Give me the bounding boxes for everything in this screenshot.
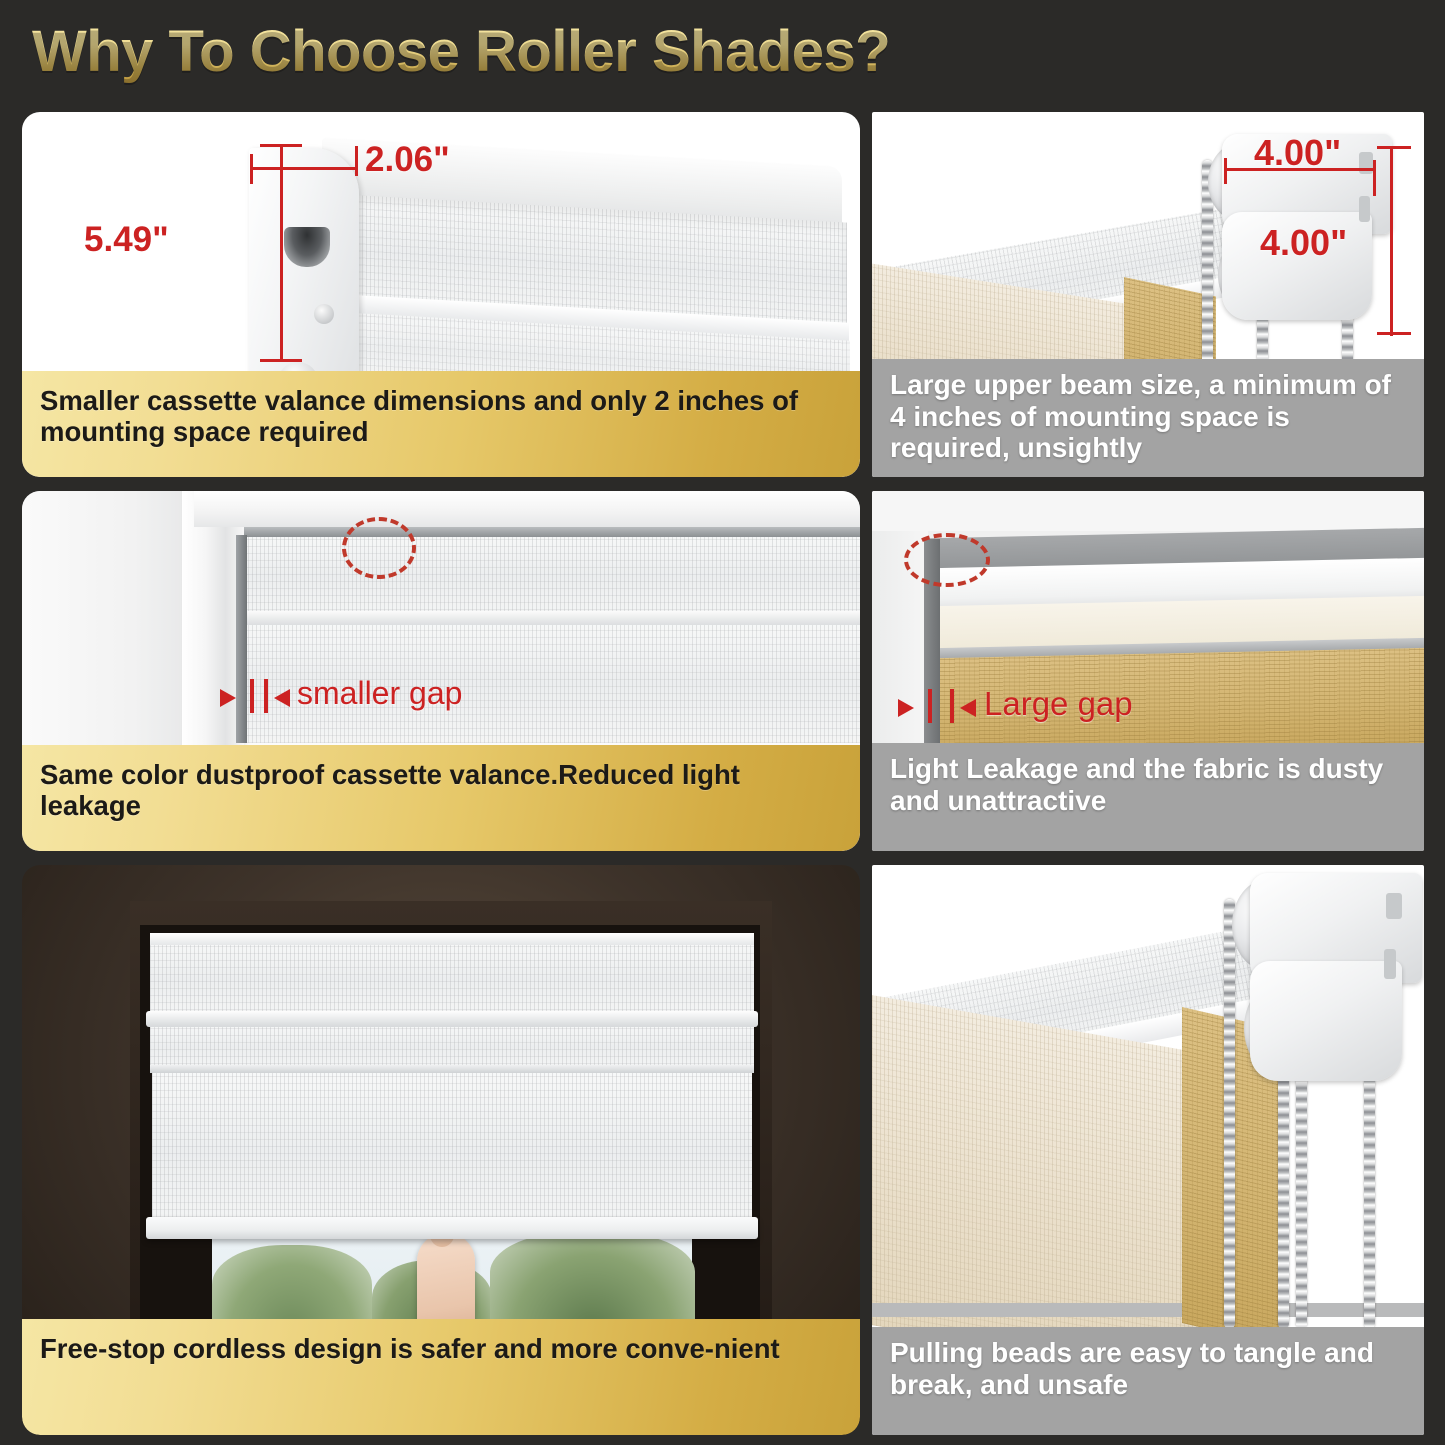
page-title-text: Why To Choose Roller Shades? <box>32 18 1232 85</box>
comparison-grid: 2.06" 5.49" Smaller cassette valance dim… <box>0 108 1445 1438</box>
bead-bracket-slot-2 <box>1384 949 1396 979</box>
end-cap-screw-upper <box>314 304 334 324</box>
panel-cordless-design: Free-stop cordless design is safer and m… <box>22 865 860 1435</box>
beam-height-top-tick <box>1377 146 1411 149</box>
gap-arrow-left <box>220 689 236 707</box>
beam-height-label: 4.00" <box>1260 222 1347 264</box>
gap-arrow-right <box>274 689 290 707</box>
beam-width-right-tick <box>1373 160 1376 196</box>
beam-height-bottom-tick <box>1377 332 1411 335</box>
caption-panel-5: Free-stop cordless design is safer and m… <box>22 1319 860 1435</box>
caption-panel-3: Same color dustproof cassette valance.Re… <box>22 745 860 851</box>
shade-main-fabric <box>152 1071 752 1231</box>
bracket-slot-2 <box>1359 196 1370 222</box>
height-dim-bottom-tick <box>260 359 302 362</box>
cassette-divider <box>244 611 860 625</box>
page-title: Why To Choose Roller Shades? <box>32 18 1232 98</box>
panel-pulling-beads: Pulling beads are easy to tangle and bre… <box>872 865 1424 1435</box>
highlight-ellipse <box>904 533 990 587</box>
gap-bar-right <box>264 679 268 713</box>
height-dimension-label: 5.49" <box>84 220 169 260</box>
window-frame-head <box>194 491 860 527</box>
large-gap-arrow-left <box>898 699 914 717</box>
cassette-left-edge <box>236 535 247 743</box>
bead-bracket-lower <box>1250 961 1402 1081</box>
bead-chain-long-1 <box>1224 899 1235 1329</box>
leak-wall-top <box>872 491 1424 531</box>
cassette-top-rail <box>244 527 860 537</box>
panel-light-leakage: Large gap Light Leakage and the fabric i… <box>872 491 1424 851</box>
window-frame-jamb <box>182 491 244 751</box>
bead-photo-floor <box>872 1303 1424 1317</box>
shade-valance-edge <box>150 1065 754 1073</box>
gap-label-large: Large gap <box>984 685 1133 723</box>
beam-height-line <box>1390 146 1393 336</box>
caption-panel-4: Light Leakage and the fabric is dusty an… <box>872 743 1424 851</box>
gap-label-small: smaller gap <box>297 675 462 712</box>
large-gap-arrow-right <box>960 699 976 717</box>
cassette-fabric-upper <box>244 535 860 617</box>
height-dim-line <box>280 144 283 362</box>
width-dimension-label: 2.06" <box>365 140 450 180</box>
gap-bar-left <box>250 679 254 713</box>
shade-valance-face <box>150 941 754 1017</box>
bead-chain-long-4 <box>1364 1073 1375 1329</box>
caption-panel-1: Smaller cassette valance dimensions and … <box>22 371 860 477</box>
window-wall-left <box>22 491 207 751</box>
caption-panel-2: Large upper beam size, a minimum of 4 in… <box>872 359 1424 477</box>
width-dim-right-tick <box>355 146 358 176</box>
width-dim-line <box>250 167 358 170</box>
bead-bracket-slot-1 <box>1386 893 1402 919</box>
shade-valance-lower <box>150 1023 754 1071</box>
shade-valance-lip <box>146 1011 758 1027</box>
shade-bottom-rail <box>146 1217 758 1239</box>
panel-dustproof-valance: smaller gap Same color dustproof cassett… <box>22 491 860 851</box>
highlight-circle <box>342 517 416 579</box>
panel-large-beam: 4.00" 4.00" Large upper beam size, a min… <box>872 112 1424 477</box>
beam-width-label: 4.00" <box>1254 132 1341 174</box>
height-dim-top-tick <box>260 144 302 147</box>
panel-cassette-dimensions: 2.06" 5.49" Smaller cassette valance dim… <box>22 112 860 477</box>
caption-panel-6: Pulling beads are easy to tangle and bre… <box>872 1327 1424 1435</box>
beam-width-left-tick <box>1224 158 1227 184</box>
large-gap-bar-left <box>928 689 932 723</box>
large-gap-bar-right <box>950 689 954 723</box>
end-cap-slot <box>284 227 330 267</box>
shade-valance-top <box>150 933 754 945</box>
